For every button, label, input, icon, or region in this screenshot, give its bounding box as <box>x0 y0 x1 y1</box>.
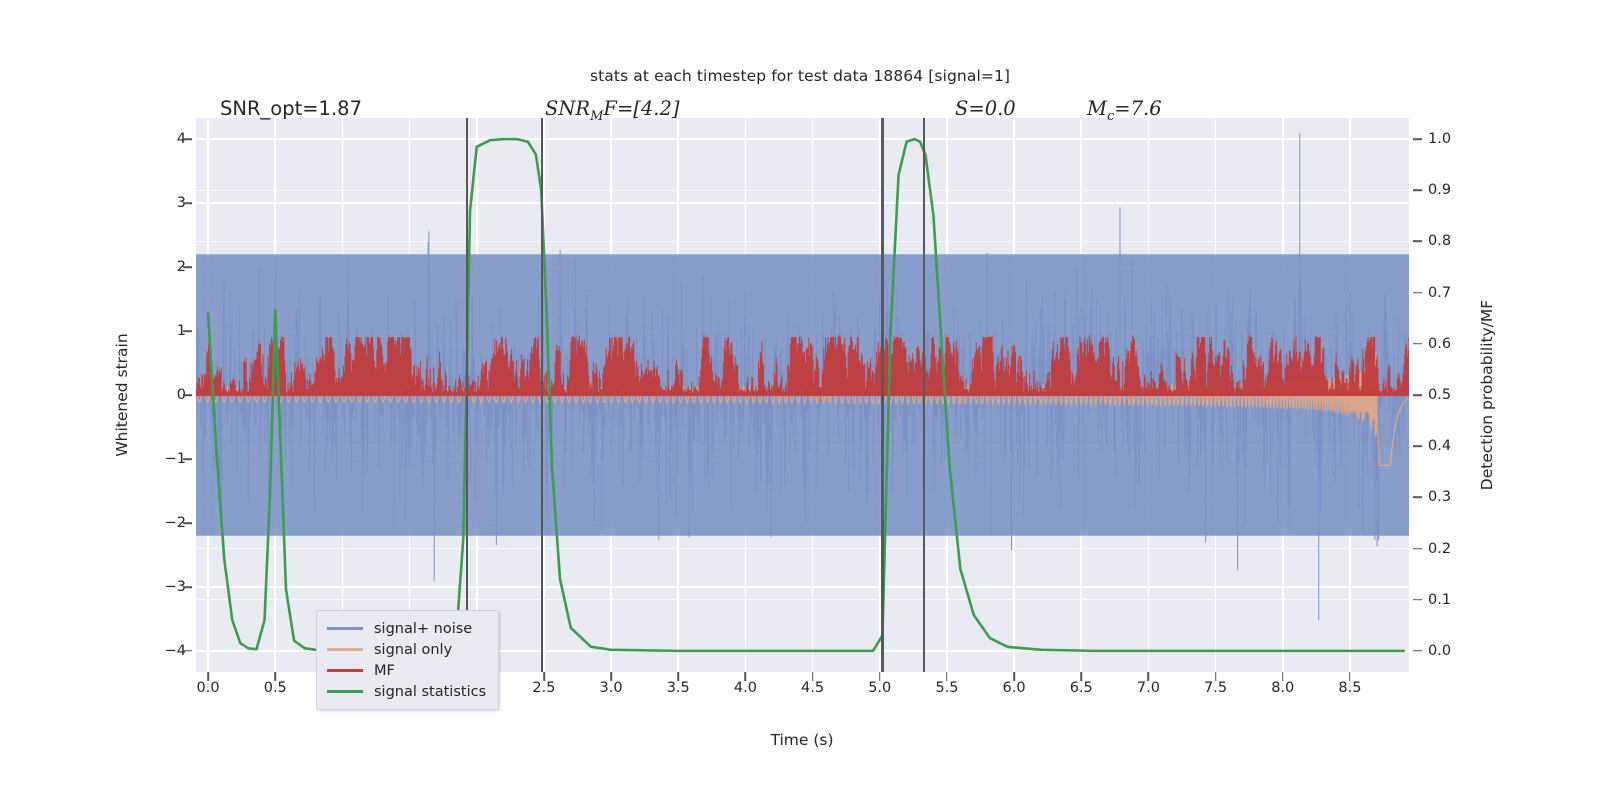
y-tick-mark-left <box>183 266 192 268</box>
x-tick-mark <box>610 672 612 681</box>
y-tick-mark-right <box>1413 190 1422 192</box>
series-layer <box>196 118 1409 672</box>
x-tick-mark <box>812 672 814 681</box>
x-tick-label: 7.5 <box>1204 680 1227 696</box>
vertical-marker-3 <box>923 118 925 672</box>
y-tick-label-right: 0.9 <box>1428 182 1451 198</box>
vertical-marker-1 <box>541 118 543 672</box>
y-tick-mark-right <box>1413 241 1422 243</box>
x-tick-mark <box>1215 672 1217 681</box>
annotation-snr-mf: SNRMF=[4.2] <box>545 97 680 124</box>
legend: signal+ noisesignal onlyMFsignal statist… <box>316 610 499 710</box>
legend-label: signal only <box>374 642 452 658</box>
x-tick-mark <box>1282 672 1284 681</box>
y-tick-label-right: 0.0 <box>1428 643 1451 659</box>
plot-area <box>196 118 1409 672</box>
y-tick-mark-left <box>183 138 192 140</box>
legend-label: signal+ noise <box>374 621 472 637</box>
y-axis-label-left: Whitened strain <box>113 333 131 456</box>
y-tick-label-right: 1.0 <box>1428 131 1451 147</box>
x-tick-label: 5.5 <box>935 680 958 696</box>
y-tick-label-right: 0.2 <box>1428 541 1451 557</box>
y-tick-label-right: 0.6 <box>1428 336 1451 352</box>
y-tick-mark-right <box>1413 548 1422 550</box>
x-tick-label: 3.5 <box>667 680 690 696</box>
x-tick-label: 4.0 <box>734 680 757 696</box>
y-tick-mark-left <box>183 394 192 396</box>
vertical-marker-0 <box>466 118 468 672</box>
y-tick-label-right: 0.3 <box>1428 489 1451 505</box>
y-tick-mark-left <box>183 202 192 204</box>
legend-item-3[interactable]: signal statistics <box>327 681 486 702</box>
x-axis-label: Time (s) <box>770 731 833 749</box>
x-tick-label: 6.0 <box>1003 680 1026 696</box>
page-title: stats at each timestep for test data 188… <box>0 67 1600 85</box>
x-tick-label: 4.5 <box>801 680 824 696</box>
annotation-snr-opt: SNR_opt=1.87 <box>220 97 362 120</box>
figure-canvas: stats at each timestep for test data 188… <box>0 0 1600 800</box>
legend-swatch-icon <box>327 648 363 651</box>
x-tick-label: 8.0 <box>1271 680 1294 696</box>
x-tick-label: 6.5 <box>1070 680 1093 696</box>
x-tick-label: 0.5 <box>264 680 287 696</box>
y-tick-mark-left <box>183 650 192 652</box>
annotation-signal-flag: S=0.0 <box>955 97 1016 120</box>
y-tick-mark-right <box>1413 394 1422 396</box>
y-tick-mark-right <box>1413 343 1422 345</box>
y-tick-mark-left <box>183 458 192 460</box>
y-tick-label-right: 0.1 <box>1428 592 1451 608</box>
x-tick-mark <box>1148 672 1150 681</box>
x-tick-label: 7.0 <box>1137 680 1160 696</box>
legend-label: MF <box>374 663 395 679</box>
x-tick-label: 8.5 <box>1338 680 1361 696</box>
x-tick-mark <box>1349 672 1351 681</box>
y-tick-label-right: 0.8 <box>1428 233 1451 249</box>
x-tick-mark <box>1080 672 1082 681</box>
y-tick-mark-left <box>183 330 192 332</box>
x-tick-label: 0.0 <box>197 680 220 696</box>
x-tick-label: 2.5 <box>532 680 555 696</box>
y-tick-mark-left <box>183 522 192 524</box>
legend-swatch-icon <box>327 627 363 630</box>
vertical-marker-2 <box>881 118 883 672</box>
legend-item-2[interactable]: MF <box>327 660 486 681</box>
annotation-chirp-mass: Mc=7.6 <box>1087 97 1162 124</box>
y-tick-mark-right <box>1413 292 1422 294</box>
y-tick-label-right: 0.4 <box>1428 438 1451 454</box>
x-tick-mark <box>879 672 881 681</box>
legend-item-1[interactable]: signal only <box>327 639 486 660</box>
legend-swatch-icon <box>327 690 363 693</box>
x-tick-mark <box>543 672 545 681</box>
legend-swatch-icon <box>327 669 363 672</box>
legend-item-0[interactable]: signal+ noise <box>327 618 486 639</box>
legend-label: signal statistics <box>374 684 486 700</box>
x-tick-mark <box>677 672 679 681</box>
x-tick-label: 5.0 <box>868 680 891 696</box>
x-tick-mark <box>274 672 276 681</box>
y-tick-label-right: 0.5 <box>1428 387 1451 403</box>
y-tick-mark-right <box>1413 445 1422 447</box>
x-tick-mark <box>207 672 209 681</box>
x-tick-mark <box>1013 672 1015 681</box>
x-tick-mark <box>946 672 948 681</box>
x-tick-label: 3.0 <box>600 680 623 696</box>
y-tick-mark-right <box>1413 599 1422 601</box>
x-tick-mark <box>745 672 747 681</box>
y-tick-label-right: 0.7 <box>1428 285 1451 301</box>
y-axis-label-right: Detection probability/MF <box>1478 300 1496 490</box>
y-tick-mark-left <box>183 586 192 588</box>
y-tick-mark-right <box>1413 138 1422 140</box>
y-tick-mark-right <box>1413 497 1422 499</box>
y-tick-mark-right <box>1413 650 1422 652</box>
